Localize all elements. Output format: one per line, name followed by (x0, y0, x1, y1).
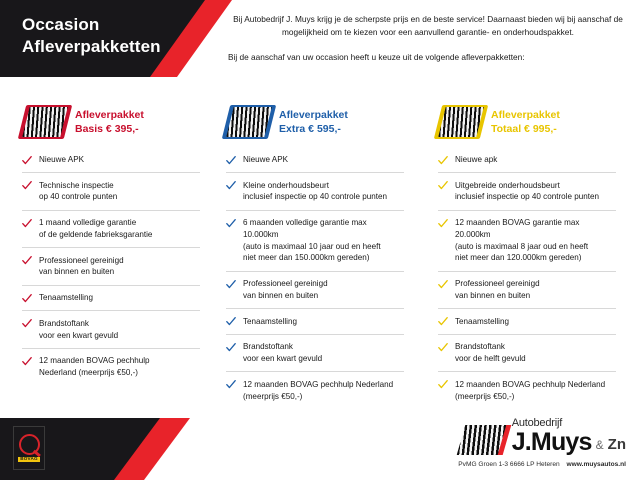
feature-item: Nieuwe APK (226, 152, 404, 172)
striped-flag-icon (438, 105, 484, 139)
feature-text-line: 1 maand volledige garantie (39, 217, 200, 229)
page-title-line1: Occasion (22, 14, 161, 36)
feature-item: Tenaamstelling (226, 308, 404, 334)
feature-item: Brandstoftankvoor een kwart gevuld (22, 310, 200, 347)
checkmark-icon (226, 218, 236, 229)
feature-text-line: Kleine onderhoudsbeurt (243, 180, 404, 192)
intro-paragraph-1: Bij Autobedrijf J. Muys krijg je de sche… (228, 13, 628, 40)
feature-item: Uitgebreide onderhoudsbeurtinclusief ins… (438, 172, 616, 209)
checkmark-icon (226, 279, 236, 290)
feature-text: 12 maanden BOVAG pechhulpNederland (meer… (39, 355, 200, 378)
feature-item: Professioneel gereinigdvan binnen en bui… (226, 271, 404, 308)
feature-text: 12 maanden BOVAG garantie max 20.000km(a… (455, 217, 616, 264)
checkmark-icon (438, 180, 448, 191)
package-title-line1: Afleverpakket (279, 108, 348, 122)
feature-item: Professioneel gereinigdvan binnen en bui… (22, 247, 200, 284)
checkmark-icon (22, 356, 32, 367)
feature-text: Tenaamstelling (39, 292, 200, 304)
checkmark-icon (22, 255, 32, 266)
feature-text-line: 6 maanden volledige garantie max 10.000k… (243, 217, 404, 240)
package-columns: Afleverpakket Basis € 395,- Nieuwe APKTe… (0, 100, 640, 409)
feature-text-line: (auto is maximaal 8 jaar oud en heeft (455, 241, 616, 253)
checkmark-icon (438, 342, 448, 353)
bovag-q-icon (19, 434, 40, 455)
feature-text-line: niet meer dan 120.000km gereden) (455, 252, 616, 264)
feature-item: Nieuwe apk (438, 152, 616, 172)
feature-text-line: Nieuwe APK (243, 154, 404, 166)
package-title-line2: Totaal € 995,- (491, 122, 560, 136)
flag-stripes (226, 107, 271, 137)
feature-text-line: Professioneel gereinigd (39, 255, 200, 267)
flag-stripes (438, 107, 483, 137)
checkmark-icon (226, 180, 236, 191)
checkmark-icon (22, 155, 32, 166)
company-name-zn: Zn (608, 436, 626, 455)
company-address-line: PvMG Groen 1-3 6666 LP Heteren www.muysa… (391, 461, 626, 468)
feature-text: 12 maanden BOVAG pechhulp Nederland(meer… (455, 379, 616, 402)
checkmark-icon (226, 316, 236, 327)
company-name-main: J.Muys (512, 430, 592, 455)
feature-text-line: Tenaamstelling (39, 292, 200, 304)
feature-item: Tenaamstelling (438, 308, 616, 334)
page-title: Occasion Afleverpakketten (22, 14, 161, 59)
package-title-line2: Extra € 595,- (279, 122, 348, 136)
checkmark-icon (438, 218, 448, 229)
striped-flag-icon (22, 105, 68, 139)
page-header: Occasion Afleverpakketten Bij Autobedrij… (0, 0, 640, 80)
feature-text-line: Professioneel gereinigd (455, 278, 616, 290)
checkmark-icon (226, 379, 236, 390)
checkmark-icon (22, 293, 32, 304)
bovag-logo: BOVAG (13, 426, 45, 470)
company-logo: Autobedrijf J.Muys & Zn PvMG Groen 1-3 6… (391, 418, 626, 468)
package-title-basis: Afleverpakket Basis € 395,- (75, 108, 144, 136)
checkmark-icon (226, 342, 236, 353)
feature-text: Tenaamstelling (243, 316, 404, 328)
feature-text-line: voor een kwart gevuld (39, 330, 200, 342)
feature-text-line: Professioneel gereinigd (243, 278, 404, 290)
feature-text-line: Tenaamstelling (455, 316, 616, 328)
feature-item: 6 maanden volledige garantie max 10.000k… (226, 210, 404, 271)
flag-stripes (22, 107, 67, 137)
feature-text-line: 12 maanden BOVAG pechhulp Nederland (455, 379, 616, 391)
feature-text-line: Uitgebreide onderhoudsbeurt (455, 180, 616, 192)
feature-text-line: of de geldende fabrieksgarantie (39, 229, 200, 241)
checkmark-icon (226, 155, 236, 166)
package-header-extra: Afleverpakket Extra € 595,- (226, 100, 404, 144)
feature-text-line: op 40 controle punten (39, 191, 200, 203)
package-header-totaal: Afleverpakket Totaal € 995,- (438, 100, 616, 144)
feature-text-line: voor de helft gevuld (455, 353, 616, 365)
feature-item: 12 maanden BOVAG pechhulp Nederland(meer… (438, 371, 616, 408)
checkmark-icon (22, 180, 32, 191)
feature-text: Tenaamstelling (455, 316, 616, 328)
package-header-basis: Afleverpakket Basis € 395,- (22, 100, 200, 144)
feature-text-line: 12 maanden BOVAG pechhulp Nederland (243, 379, 404, 391)
package-column-extra: Afleverpakket Extra € 595,- Nieuwe APKKl… (214, 100, 416, 409)
feature-text: Professioneel gereinigdvan binnen en bui… (39, 255, 200, 278)
feature-text: Technische inspectieop 40 controle punte… (39, 180, 200, 203)
feature-text-line: (auto is maximaal 10 jaar oud en heeft (243, 241, 404, 253)
feature-text-line: van binnen en buiten (243, 290, 404, 302)
page-title-line2: Afleverpakketten (22, 36, 161, 58)
checkmark-icon (22, 218, 32, 229)
checkmark-icon (22, 318, 32, 329)
feature-text-line: niet meer dan 150.000km gereden) (243, 252, 404, 264)
package-title-line1: Afleverpakket (75, 108, 144, 122)
feature-item: 12 maanden BOVAG pechhulp Nederland(meer… (226, 371, 404, 408)
feature-list-basis: Nieuwe APKTechnische inspectieop 40 cont… (22, 152, 200, 385)
feature-text: Brandstoftankvoor een kwart gevuld (243, 341, 404, 364)
feature-text-line: inclusief inspectie op 40 controle punte… (455, 191, 616, 203)
company-name: Autobedrijf J.Muys (512, 418, 592, 455)
checkmark-icon (438, 155, 448, 166)
feature-text-line: Tenaamstelling (243, 316, 404, 328)
checkmark-icon (438, 279, 448, 290)
company-name-ampersand: & (596, 438, 604, 455)
package-title-extra: Afleverpakket Extra € 595,- (279, 108, 348, 136)
feature-text: Uitgebreide onderhoudsbeurtinclusief ins… (455, 180, 616, 203)
feature-list-extra: Nieuwe APKKleine onderhoudsbeurtinclusie… (226, 152, 404, 409)
company-logo-row: Autobedrijf J.Muys & Zn (391, 418, 626, 455)
feature-text: 6 maanden volledige garantie max 10.000k… (243, 217, 404, 264)
feature-item: Brandstoftankvoor de helft gevuld (438, 334, 616, 371)
feature-item: Tenaamstelling (22, 285, 200, 311)
feature-text-line: 12 maanden BOVAG garantie max 20.000km (455, 217, 616, 240)
feature-item: Technische inspectieop 40 controle punte… (22, 172, 200, 209)
feature-item: Professioneel gereinigdvan binnen en bui… (438, 271, 616, 308)
feature-item: 12 maanden BOVAG garantie max 20.000km(a… (438, 210, 616, 271)
feature-text-line: voor een kwart gevuld (243, 353, 404, 365)
intro-text: Bij Autobedrijf J. Muys krijg je de sche… (228, 13, 628, 64)
feature-item: Brandstoftankvoor een kwart gevuld (226, 334, 404, 371)
feature-text: Nieuwe APK (243, 154, 404, 166)
feature-text-line: 12 maanden BOVAG pechhulp (39, 355, 200, 367)
feature-text-line: Nieuwe apk (455, 154, 616, 166)
checkmark-icon (438, 379, 448, 390)
feature-text: Nieuwe APK (39, 154, 200, 166)
feature-text-line: Brandstoftank (243, 341, 404, 353)
feature-text-line: Brandstoftank (455, 341, 616, 353)
feature-text: Nieuwe apk (455, 154, 616, 166)
feature-text: Professioneel gereinigdvan binnen en bui… (455, 278, 616, 301)
feature-item: Kleine onderhoudsbeurtinclusief inspecti… (226, 172, 404, 209)
feature-text: Professioneel gereinigdvan binnen en bui… (243, 278, 404, 301)
feature-text: Brandstoftankvoor de helft gevuld (455, 341, 616, 364)
feature-text-line: (meerprijs €50,-) (455, 391, 616, 403)
checkmark-icon (438, 316, 448, 327)
feature-text-line: Nieuwe APK (39, 154, 200, 166)
feature-text-line: inclusief inspectie op 40 controle punte… (243, 191, 404, 203)
feature-item: 12 maanden BOVAG pechhulpNederland (meer… (22, 348, 200, 385)
company-address: PvMG Groen 1-3 6666 LP Heteren (458, 461, 559, 468)
feature-text-line: van binnen en buiten (455, 290, 616, 302)
package-column-basis: Afleverpakket Basis € 395,- Nieuwe APKTe… (10, 100, 212, 409)
feature-list-totaal: Nieuwe apkUitgebreide onderhoudsbeurtinc… (438, 152, 616, 409)
feature-text-line: (meerprijs €50,-) (243, 391, 404, 403)
feature-item: 1 maand volledige garantieof de geldende… (22, 210, 200, 247)
package-title-line1: Afleverpakket (491, 108, 560, 122)
bovag-label: BOVAG (18, 457, 40, 463)
feature-text: 12 maanden BOVAG pechhulp Nederland(meer… (243, 379, 404, 402)
package-title-totaal: Afleverpakket Totaal € 995,- (491, 108, 560, 136)
feature-text: Kleine onderhoudsbeurtinclusief inspecti… (243, 180, 404, 203)
feature-text: Brandstoftankvoor een kwart gevuld (39, 318, 200, 341)
package-column-totaal: Afleverpakket Totaal € 995,- Nieuwe apkU… (426, 100, 628, 409)
feature-item: Nieuwe APK (22, 152, 200, 172)
company-website[interactable]: www.muysautos.nl (567, 461, 626, 468)
feature-text-line: Nederland (meerprijs €50,-) (39, 367, 200, 379)
intro-paragraph-2: Bij de aanschaf van uw occasion heeft u … (228, 51, 628, 64)
package-title-line2: Basis € 395,- (75, 122, 144, 136)
striped-flag-icon (461, 425, 507, 455)
feature-text-line: van binnen en buiten (39, 266, 200, 278)
feature-text-line: Technische inspectie (39, 180, 200, 192)
feature-text-line: Brandstoftank (39, 318, 200, 330)
bovag-logo-inner: BOVAG (17, 431, 41, 465)
striped-flag-icon (226, 105, 272, 139)
feature-text: 1 maand volledige garantieof de geldende… (39, 217, 200, 240)
